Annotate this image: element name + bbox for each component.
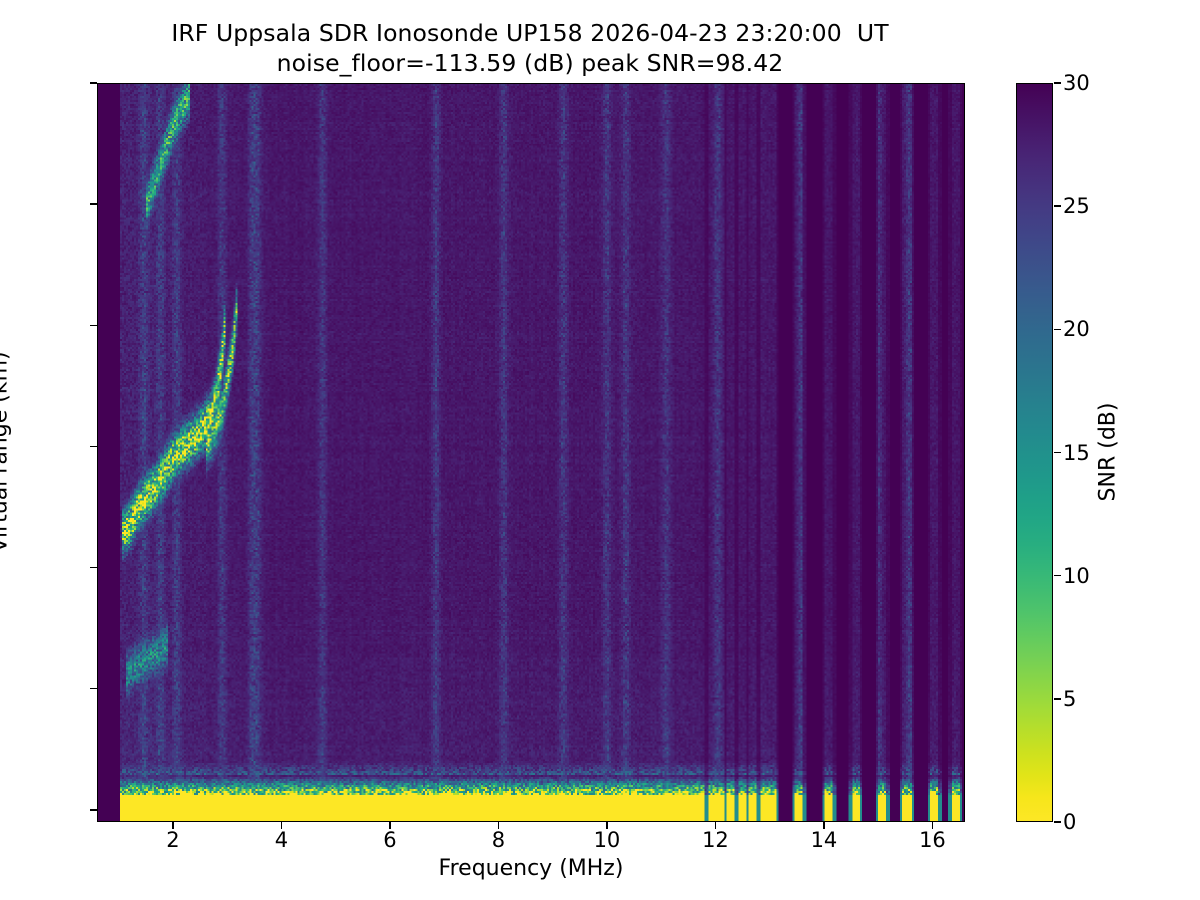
- colorbar-tick-mark: [1054, 452, 1061, 454]
- colorbar-tick-mark: [1054, 329, 1061, 331]
- x-axis-label: Frequency (MHz): [97, 856, 965, 881]
- x-tick-mark: [281, 822, 283, 829]
- colorbar-tick-label: 25: [1063, 194, 1090, 218]
- colorbar-tick-label: 30: [1063, 71, 1090, 95]
- figure-title: IRF Uppsala SDR Ionosonde UP158 2026-04-…: [0, 18, 1060, 78]
- x-tick-label: 12: [702, 828, 729, 852]
- colorbar-tick-label: 0: [1063, 810, 1076, 834]
- ionogram-heatmap: [98, 84, 964, 821]
- x-tick-label: 10: [594, 828, 621, 852]
- colorbar-tick-mark: [1054, 698, 1061, 700]
- x-tick-mark: [498, 822, 500, 829]
- ionogram-figure: IRF Uppsala SDR Ionosonde UP158 2026-04-…: [0, 0, 1200, 900]
- x-tick-label: 4: [275, 828, 288, 852]
- ionogram-plot-area[interactable]: [97, 83, 965, 822]
- x-tick-label: 8: [492, 828, 505, 852]
- y-tick-mark: [90, 688, 97, 690]
- y-axis-label: Virtual range (km): [0, 351, 13, 552]
- colorbar[interactable]: [1016, 83, 1053, 822]
- x-tick-mark: [715, 822, 717, 829]
- colorbar-tick-mark: [1054, 575, 1061, 577]
- colorbar-tick-label: 20: [1063, 317, 1090, 341]
- colorbar-label: SNR (dB): [1096, 403, 1121, 502]
- y-tick-mark: [90, 203, 97, 205]
- colorbar-tick-label: 15: [1063, 441, 1090, 465]
- colorbar-tick-mark: [1054, 821, 1061, 823]
- y-tick-mark: [90, 567, 97, 569]
- title-line-1: IRF Uppsala SDR Ionosonde UP158 2026-04-…: [0, 18, 1060, 48]
- x-tick-label: 16: [919, 828, 946, 852]
- x-tick-mark: [389, 822, 391, 829]
- x-tick-label: 14: [811, 828, 838, 852]
- x-tick-label: 2: [166, 828, 179, 852]
- title-line-2: noise_floor=-113.59 (dB) peak SNR=98.42: [0, 48, 1060, 78]
- y-tick-mark: [90, 82, 97, 84]
- colorbar-gradient: [1017, 84, 1052, 821]
- colorbar-tick-mark: [1054, 82, 1061, 84]
- y-tick-mark: [90, 809, 97, 811]
- x-tick-mark: [606, 822, 608, 829]
- x-tick-mark: [172, 822, 174, 829]
- x-tick-label: 6: [383, 828, 396, 852]
- colorbar-tick-label: 5: [1063, 687, 1076, 711]
- colorbar-tick-label: 10: [1063, 564, 1090, 588]
- x-tick-mark: [823, 822, 825, 829]
- y-tick-mark: [90, 446, 97, 448]
- y-tick-mark: [90, 325, 97, 327]
- colorbar-tick-mark: [1054, 205, 1061, 207]
- x-tick-mark: [932, 822, 934, 829]
